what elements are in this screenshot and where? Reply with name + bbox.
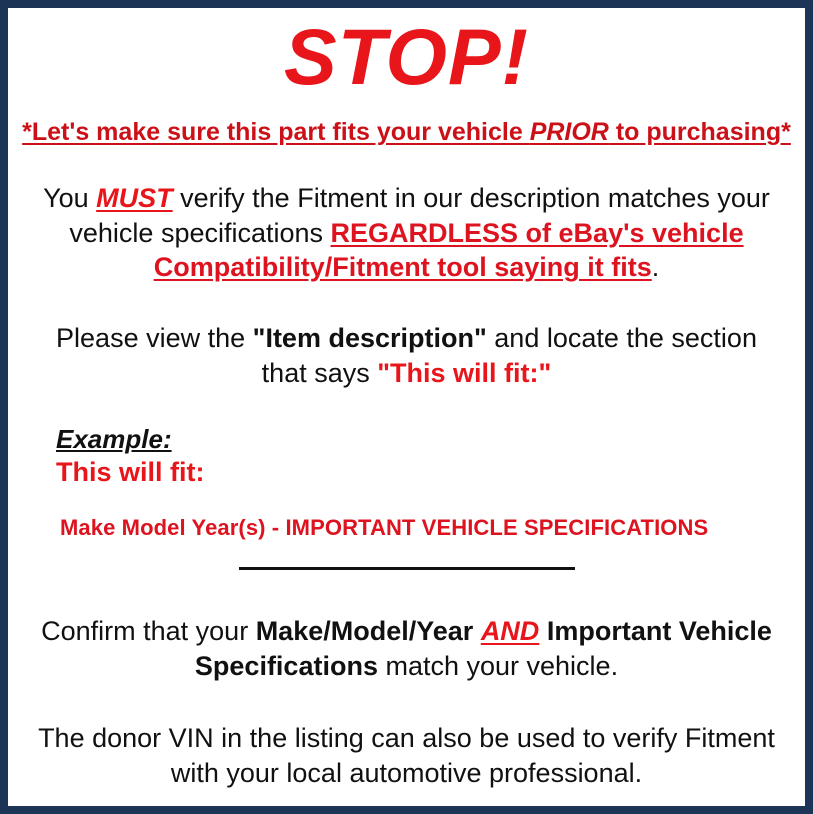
confirm-paragraph: Confirm that your Make/Model/Year AND Im… (20, 614, 793, 683)
example-block: Example: This will fit: Make Model Year(… (20, 424, 793, 541)
subtitle-line: *Let's make sure this part fits your veh… (20, 117, 793, 147)
must-keyword: MUST (96, 183, 173, 213)
donor-vin-paragraph: The donor VIN in the listing can also be… (20, 721, 793, 790)
this-will-fit-quote: "This will fit:" (377, 358, 551, 388)
example-label-row: Example: (56, 424, 793, 455)
make-model-year-emphasis: Make/Model/Year (256, 616, 474, 646)
and-keyword: AND (481, 616, 540, 646)
fitment-notice-card: STOP! *Let's make sure this part fits yo… (0, 0, 813, 814)
must-verify-paragraph: You MUST verify the Fitment in our descr… (20, 181, 793, 285)
horizontal-divider (239, 567, 575, 570)
notice-content-area: STOP! *Let's make sure this part fits yo… (8, 8, 805, 806)
confirm-seg1: Confirm that your (41, 616, 256, 646)
confirm-seg3 (473, 616, 481, 646)
example-fit-heading: This will fit: (56, 457, 793, 488)
subtitle-text-before: *Let's make sure this part fits your veh… (22, 118, 530, 146)
item-description-quote: "Item description" (253, 323, 487, 353)
divider-row (20, 567, 793, 581)
subtitle-text-after: to purchasing* (609, 118, 791, 146)
example-spec-line: Make Model Year(s) - IMPORTANT VEHICLE S… (60, 515, 793, 541)
view-para-seg1: Please view the (56, 323, 253, 353)
confirm-seg5 (539, 616, 547, 646)
view-description-paragraph: Please view the "Item description" and l… (20, 321, 793, 390)
must-para-seg1: You (43, 183, 96, 213)
page-title: STOP! (20, 8, 793, 99)
example-label: Example: (56, 424, 172, 455)
must-para-period: . (652, 252, 660, 282)
confirm-seg7: match your vehicle. (378, 651, 618, 681)
subtitle-emphasis-prior: PRIOR (530, 118, 609, 146)
